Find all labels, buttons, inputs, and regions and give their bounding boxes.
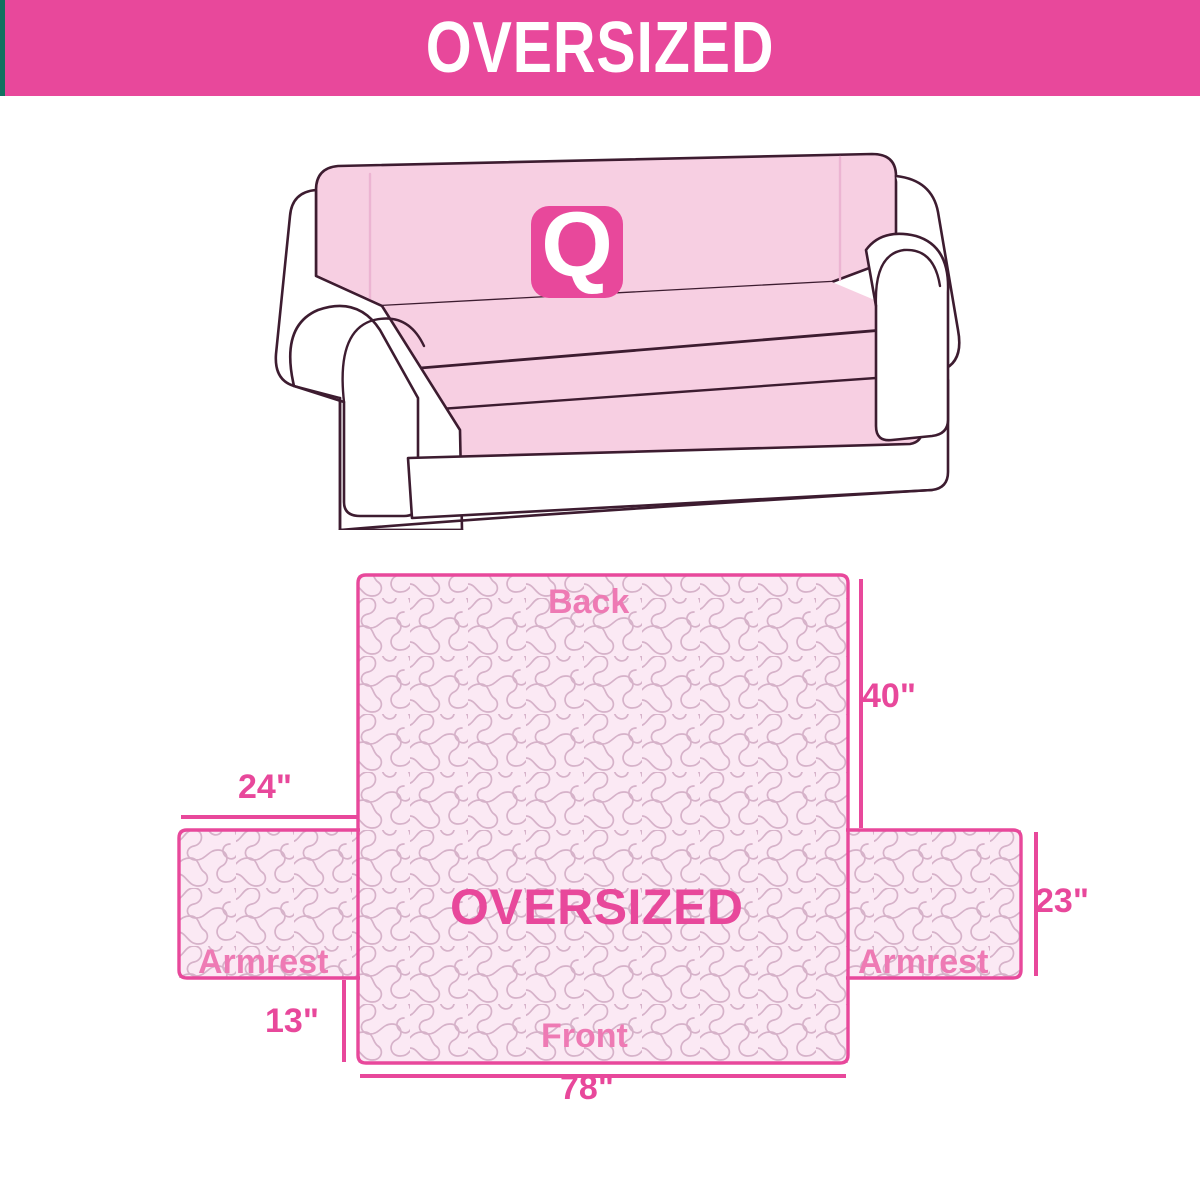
page-title: OVERSIZED — [108, 0, 1092, 96]
header-accent-bar — [0, 0, 5, 96]
svg-text:Q: Q — [541, 194, 613, 296]
sofa-line-drawing: Q — [232, 130, 992, 530]
label-back: Back — [548, 583, 629, 622]
dimension-value-23: 23" — [1035, 882, 1089, 921]
dimension-value-24: 24" — [238, 768, 292, 807]
header-banner: OVERSIZED — [0, 0, 1200, 96]
dimension-value-78: 78" — [560, 1069, 614, 1108]
sofa-illustration: Q — [232, 130, 992, 530]
dimension-value-40: 40" — [862, 677, 916, 716]
brand-badge-q: Q — [531, 194, 623, 298]
label-front: Front — [541, 1017, 628, 1056]
dimension-value-13: 13" — [265, 1002, 319, 1041]
label-armrest-right: Armrest — [858, 943, 988, 982]
label-oversized-center: OVERSIZED — [450, 878, 743, 936]
label-armrest-left: Armrest — [198, 943, 328, 982]
